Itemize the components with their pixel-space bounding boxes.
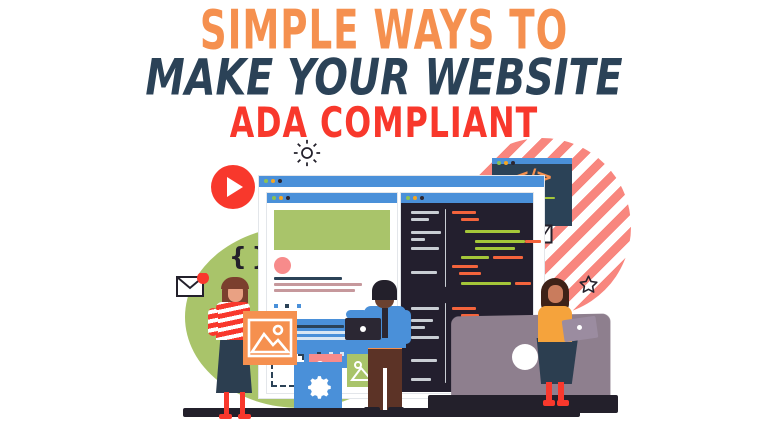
play-triangle: [227, 177, 243, 197]
face: [548, 285, 563, 303]
laptop-logo: [577, 325, 582, 330]
shoe: [364, 407, 380, 413]
code-line-number: [411, 247, 439, 250]
gear-outline-icon: [292, 138, 322, 172]
code-gutter-rail: [445, 303, 446, 383]
window-dot-orange: [413, 196, 417, 200]
code-line-number: [411, 218, 429, 221]
window-dot-orange: [279, 196, 283, 200]
text-line: [274, 277, 342, 280]
text-line: [274, 289, 355, 292]
star-outline-icon: [578, 274, 599, 300]
code-token: [452, 265, 478, 268]
window-titlebar: [492, 158, 572, 164]
mail-icon: [176, 273, 210, 304]
window-titlebar: [259, 176, 544, 187]
code-token: [461, 218, 479, 221]
window-dot-green: [272, 196, 276, 200]
leg-gap: [383, 368, 387, 410]
code-token: [515, 282, 531, 285]
window-dot-orange: [504, 161, 508, 165]
code-token: [459, 272, 481, 275]
arm: [208, 308, 218, 336]
code-token: [525, 240, 541, 243]
code-line-number: [411, 307, 439, 310]
arm-right: [401, 310, 411, 344]
laptop-logo: [512, 344, 538, 370]
hair: [372, 280, 397, 300]
window-titlebar: [401, 193, 533, 203]
window-dot-dark: [278, 179, 282, 183]
pager-dot[interactable]: [285, 304, 289, 308]
avatar: [274, 257, 291, 274]
code-token: [465, 230, 520, 233]
code-line-number: [411, 211, 439, 214]
text-line: [274, 283, 362, 286]
code-token: [461, 282, 511, 285]
banner-canvas: SIMPLE WAYS TO MAKE YOUR WEBSITE ADA COM…: [0, 0, 768, 432]
code-token: [452, 307, 476, 310]
window-dot-green: [264, 179, 268, 183]
code-line-number: [411, 336, 439, 339]
shoe: [238, 414, 251, 419]
code-gutter-rail: [445, 209, 446, 287]
necktie: [382, 308, 388, 338]
code-token: [452, 211, 476, 214]
code-line-number: [411, 271, 437, 274]
skirt: [534, 338, 578, 384]
code-line-number: [411, 319, 433, 322]
window-dot-green: [406, 196, 410, 200]
code-token: [475, 240, 525, 243]
hero-banner-block: [274, 210, 390, 250]
code-line-number: [411, 231, 441, 234]
shoe: [388, 407, 404, 413]
code-line-number: [411, 326, 425, 329]
window-dot-dark: [511, 161, 515, 165]
code-token: [461, 256, 489, 259]
pager-dot[interactable]: [274, 304, 278, 308]
code-token: [493, 256, 523, 259]
code-line-number: [411, 238, 425, 241]
code-line-number: [411, 359, 437, 362]
window-dot-dark: [420, 196, 424, 200]
pager-dot[interactable]: [297, 304, 301, 308]
gear-solid-icon[interactable]: [294, 362, 342, 410]
code-line-number: [411, 378, 431, 381]
boot: [557, 400, 569, 406]
window-dot-green: [497, 161, 501, 165]
window-dot-orange: [271, 179, 275, 183]
illustration-scene: </> { }: [0, 130, 768, 432]
image-placeholder-icon[interactable]: [243, 311, 297, 365]
code-token: [475, 247, 515, 250]
headline-line-2: MAKE YOUR WEBSITE: [4, 53, 764, 103]
window-titlebar: [267, 193, 397, 203]
play-button-icon[interactable]: [211, 165, 255, 209]
boot: [543, 400, 555, 406]
window-dot-dark: [286, 196, 290, 200]
headline-block: SIMPLE WAYS TO MAKE YOUR WEBSITE ADA COM…: [0, 4, 768, 134]
shoe: [219, 414, 232, 419]
handheld-laptop-logo: [360, 326, 366, 332]
